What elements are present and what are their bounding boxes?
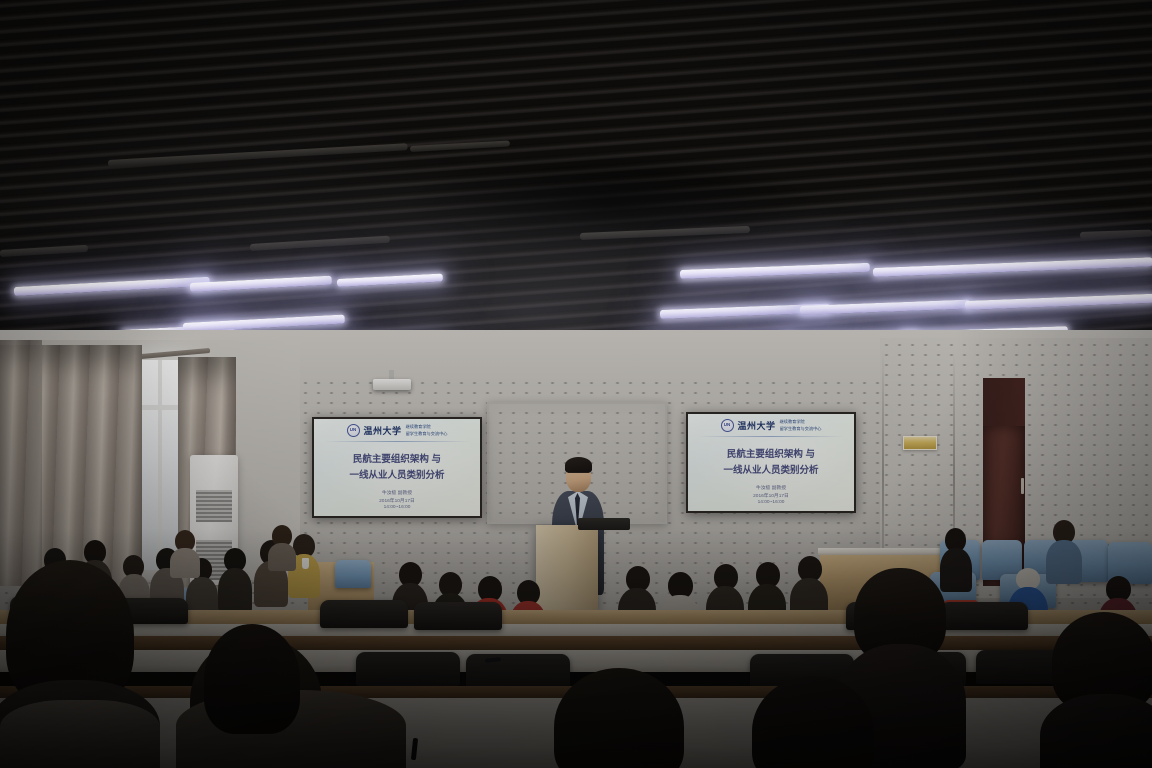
slide-header-left: UN 温州大学 继续教育学院 留学生教育与交流中心 [314, 424, 480, 437]
audience-head [554, 668, 684, 768]
slide-right: UN 温州大学 继续教育学院 留学生教育与交流中心 民航主要组织架构 与 一线从… [688, 414, 854, 511]
slide-date: 2016年10月17日 [688, 492, 854, 499]
slide-time: 14:00~16:00 [688, 500, 854, 505]
university-subtitle-line1: 继续教育学院 [780, 419, 822, 425]
foreground-audience-member [734, 676, 894, 768]
front-table-right-top [818, 548, 942, 555]
ceiling-shadow-left [400, 150, 820, 260]
university-subtitle-line1: 继续教育学院 [406, 424, 448, 430]
ceiling-shadow-right [980, 230, 1150, 340]
university-subtitle-line2: 留学生教育与交流中心 [406, 431, 448, 437]
air-conditioner-grill [196, 490, 232, 522]
seat-back[interactable] [414, 602, 502, 630]
university-logo-icon: UN [721, 419, 734, 432]
lectern-surface [578, 518, 630, 530]
foreground-audience-member [0, 700, 160, 768]
audience-head [204, 624, 300, 734]
audience-member [170, 530, 200, 572]
presenter-glasses-icon [568, 472, 589, 477]
slide-title-line2: 一线从业人员类别分析 [314, 467, 480, 481]
window-frame [158, 360, 162, 570]
audience-body [218, 568, 252, 614]
wall-plaque [903, 436, 937, 450]
auditorium-chair[interactable] [335, 560, 371, 588]
slide-header-right: UN 温州大学 继续教育学院 留学生教育与交流中心 [688, 419, 854, 432]
slide-left: UN 温州大学 继续教育学院 留学生教育与交流中心 民航主要组织架构 与 一线从… [314, 419, 480, 516]
slide-header-rule [324, 441, 470, 442]
audience-member [218, 548, 252, 610]
projection-screen-left: UN 温州大学 继续教育学院 留学生教育与交流中心 民航主要组织架构 与 一线从… [312, 417, 482, 518]
audience-body [268, 543, 296, 571]
foreground-audience-member [540, 668, 700, 768]
curtain-panel-far-left[interactable] [0, 340, 42, 586]
slide-time: 14:00~16:00 [314, 505, 480, 510]
slide-date: 2016年10月17日 [314, 497, 480, 504]
audience-body [1040, 694, 1152, 768]
seat-back[interactable] [320, 600, 408, 628]
slide-title-line2: 一线从业人员类别分析 [688, 462, 854, 476]
audience-body [1046, 540, 1082, 584]
university-subtitle-line2: 留学生教育与交流中心 [780, 426, 822, 432]
audience-head [752, 676, 874, 768]
slide-title-line1: 民航主要组织架构 与 [688, 446, 854, 460]
slide-presenter: 牛汝极 副教授 [688, 484, 854, 491]
audience-body [170, 548, 200, 578]
lecture-hall-photo: UN 温州大学 继续教育学院 留学生教育与交流中心 民航主要组织架构 与 一线从… [0, 0, 1152, 768]
door-transom [983, 378, 1025, 426]
audience-member [1046, 520, 1082, 582]
university-subtitle: 继续教育学院 留学生教育与交流中心 [406, 424, 448, 437]
projection-screen-right: UN 温州大学 继续教育学院 留学生教育与交流中心 民航主要组织架构 与 一线从… [686, 412, 856, 513]
audience-body [0, 700, 160, 768]
audience-member [268, 525, 296, 565]
foreground-audience-member [1040, 612, 1152, 768]
university-name: 温州大学 [738, 419, 776, 432]
seat-back[interactable] [356, 652, 460, 686]
foreground-audience-member [196, 624, 316, 768]
ceiling-projector [373, 379, 411, 390]
slide-title-line1: 民航主要组织架构 与 [314, 451, 480, 465]
slide-presenter: 牛汝极 副教授 [314, 489, 480, 496]
paper-cup [302, 558, 309, 569]
university-logo-icon: UN [347, 424, 360, 437]
university-subtitle: 继续教育学院 留学生教育与交流中心 [780, 419, 822, 432]
university-name: 温州大学 [364, 424, 402, 437]
slide-header-rule [698, 436, 844, 437]
door-handle[interactable] [1021, 478, 1024, 494]
presenter-hair [565, 457, 592, 473]
